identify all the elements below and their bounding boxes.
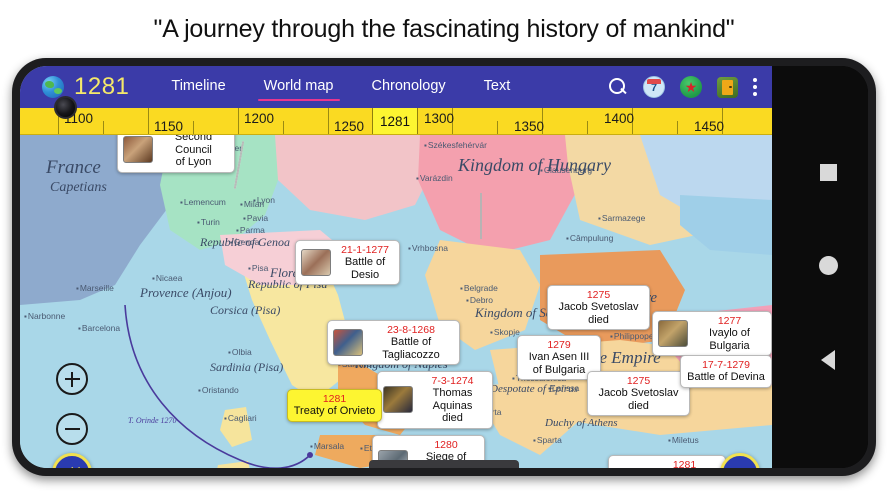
event-date-ertugrul: 1281 [649, 459, 720, 468]
event-date-devina: 17-7-1279 [686, 359, 766, 371]
event-text-orvieto: 1281 Treaty of Orvieto [293, 393, 376, 418]
home-button-icon[interactable] [819, 256, 838, 275]
event-card-aquinas[interactable]: 7-3-1274 Thomas Aquinas died [377, 371, 493, 429]
star-badge-icon[interactable]: ★ [680, 76, 702, 98]
event-title-aquinas: Thomas Aquinas died [418, 387, 487, 425]
event-text-desio: 21-1-1277 Battle of Desio [336, 244, 394, 281]
event-text-svetoslav-2: 1275 Jacob Svetoslav died [593, 375, 684, 412]
event-text-ivan-asen: 1279 Ivan Asen III of Bulgaria [523, 339, 595, 376]
event-date-berat: 1280 [413, 439, 479, 451]
page-caption: "A journey through the fascinating histo… [0, 0, 888, 58]
recents-button-icon[interactable] [820, 164, 837, 181]
tab-chronology[interactable]: Chronology [370, 73, 448, 101]
overflow-menu-icon[interactable] [753, 78, 758, 96]
ruler-label-1150: 1150 [154, 119, 183, 134]
app-screen: 1281 Timeline World map Chronology Text … [20, 66, 772, 468]
event-thumb-ivaylo [658, 320, 688, 347]
event-card-devina[interactable]: 17-7-1279 Battle of Devina [680, 355, 772, 388]
event-text-svetoslav-1: 1275 Jacob Svetoslav died [553, 289, 644, 326]
tab-world-map[interactable]: World map [262, 73, 336, 101]
event-thumb-aquinas [383, 386, 413, 413]
tab-bar: Timeline World map Chronology Text [169, 73, 608, 101]
event-text-tagliacozzo: 23-8-1268 Battle of Tagliacozzo [368, 324, 454, 361]
calendar-icon[interactable]: 7 [643, 76, 665, 98]
event-card-orvieto[interactable]: 1281 Treaty of Orvieto [287, 389, 382, 422]
event-title-orvieto: Treaty of Orvieto [293, 405, 376, 418]
ruler-label-1250: 1250 [334, 119, 364, 134]
event-card-svetoslav-1[interactable]: 1275 Jacob Svetoslav died [547, 285, 650, 330]
event-date-svetoslav-2: 1275 [593, 375, 684, 387]
phone-screen-inner: 1281 Timeline World map Chronology Text … [20, 66, 868, 468]
zoom-out-button[interactable] [56, 413, 88, 445]
event-date-aquinas: 7-3-1274 [418, 375, 487, 387]
event-card-svetoslav-2[interactable]: 1275 Jacob Svetoslav died [587, 371, 690, 416]
calendar-icon-header [647, 79, 661, 84]
event-title-ivaylo: Ivaylo of Bulgaria [693, 327, 766, 352]
event-thumb-lyon [123, 136, 153, 163]
zoom-in-button[interactable] [56, 363, 88, 395]
event-title-devina: Battle of Devina [686, 371, 766, 384]
phone-chin-notch [369, 460, 519, 468]
event-date-svetoslav-1: 1275 [553, 289, 644, 301]
event-card-tagliacozzo[interactable]: 23-8-1268 Battle of Tagliacozzo [327, 320, 460, 365]
event-date-orvieto: 1281 [293, 393, 376, 405]
event-text-ivaylo: 1277 Ivaylo of Bulgaria [693, 315, 766, 352]
event-title-desio: Battle of Desio [336, 256, 394, 281]
globe-icon [42, 76, 64, 98]
event-card-lyon[interactable]: Second Council of Lyon [117, 135, 235, 173]
tab-text[interactable]: Text [482, 73, 513, 101]
event-title-svetoslav-1: Jacob Svetoslav died [553, 301, 644, 326]
android-navigation-bar [772, 66, 868, 468]
event-title-ivan-asen: Ivan Asen III of Bulgaria [523, 351, 595, 376]
event-text-devina: 17-7-1279 Battle of Devina [686, 359, 766, 384]
front-camera [54, 96, 77, 119]
ruler-current-year[interactable]: 1281 [372, 108, 418, 134]
event-text-ertugrul: 1281 Ertuğrul Gazi (father of Osman I) [649, 459, 720, 468]
app-bar-actions: 7 ★ [608, 76, 772, 98]
tab-timeline[interactable]: Timeline [169, 73, 227, 101]
event-card-ertugrul[interactable]: 1281 Ertuğrul Gazi (father of Osman I) [608, 455, 726, 468]
card-leader-svetoslav1 [480, 193, 482, 239]
back-button-icon[interactable] [821, 350, 835, 370]
event-title-svetoslav-2: Jacob Svetoslav died [593, 387, 684, 412]
phone-frame: 1281 Timeline World map Chronology Text … [12, 58, 876, 476]
event-thumb-tagliacozzo [333, 329, 363, 356]
timeline-ruler[interactable]: 1100 1150 1200 1250 1281 1300 1350 1400 … [20, 108, 772, 135]
event-card-ivaylo[interactable]: 1277 Ivaylo of Bulgaria [652, 311, 772, 356]
event-date-ivan-asen: 1279 [523, 339, 595, 351]
event-text-aquinas: 7-3-1274 Thomas Aquinas died [418, 375, 487, 425]
ruler-label-1300: 1300 [424, 111, 454, 126]
world-map-canvas[interactable]: France Capetians Republic of Genoa Repub… [20, 135, 772, 468]
event-date-ivaylo: 1277 [693, 315, 766, 327]
event-date-tagliacozzo: 23-8-1268 [368, 324, 454, 336]
event-card-desio[interactable]: 21-1-1277 Battle of Desio [295, 240, 400, 285]
exit-door-icon[interactable] [717, 77, 738, 98]
search-icon[interactable] [608, 77, 628, 97]
app-bar: 1281 Timeline World map Chronology Text … [20, 66, 772, 108]
ruler-label-1350: 1350 [514, 119, 544, 134]
event-title-tagliacozzo: Battle of Tagliacozzo [368, 336, 454, 361]
event-thumb-desio [301, 249, 331, 276]
current-year-label: 1281 [74, 75, 129, 99]
event-text-lyon: Second Council of Lyon [158, 135, 229, 169]
ruler-label-1400: 1400 [604, 111, 634, 126]
calendar-icon-day: 7 [651, 83, 657, 97]
event-title-lyon: Second Council of Lyon [158, 135, 229, 169]
event-date-desio: 21-1-1277 [336, 244, 394, 256]
ruler-label-1200: 1200 [244, 111, 274, 126]
ruler-label-1450: 1450 [694, 119, 724, 134]
